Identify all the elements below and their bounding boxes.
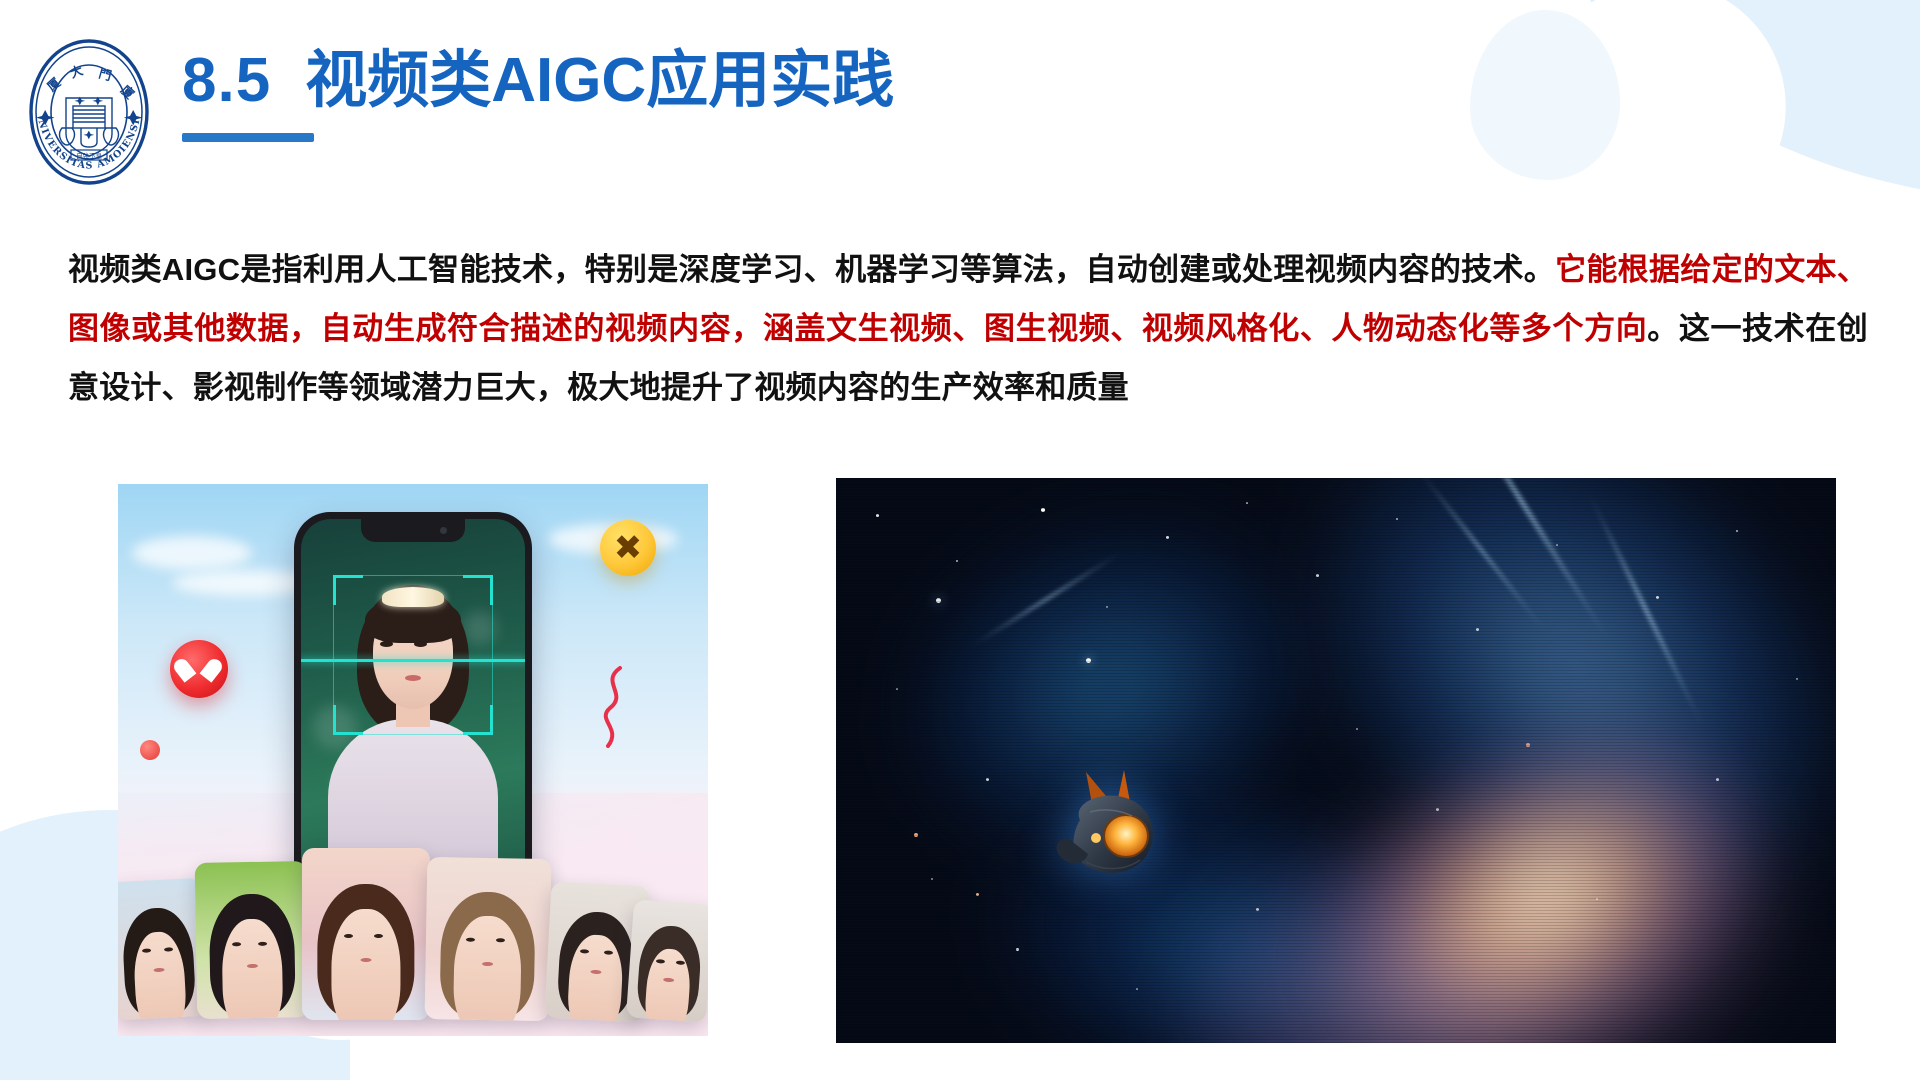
figure-row: ✖ (0, 478, 1920, 1048)
face-thumbnail (195, 861, 310, 1019)
svg-text:自強不息: 自強不息 (76, 151, 103, 160)
heart-icon (170, 640, 228, 698)
face-detection-frame (333, 575, 493, 735)
face-thumbnail-strip (118, 840, 708, 1020)
detection-corner (463, 575, 493, 605)
face-thumbnail (118, 878, 208, 1021)
spaceship-icon (1034, 764, 1184, 884)
body-paragraph: 视频类AIGC是指利用人工智能技术，特别是深度学习、机器学习等算法，自动创建或处… (68, 240, 1868, 417)
ribbon-swirl-icon (590, 664, 634, 760)
red-dot-decoration (140, 740, 160, 760)
image-ai-face-swap-poster: ✖ (118, 484, 708, 1036)
image-ai-generated-galaxy: AI 生成的星系太空场景，一艘橙色舷窗的飞船正驶向发光的星云漩涡 (836, 478, 1836, 1043)
page-title: 8.5视频类AIGC应用实践 (182, 48, 894, 113)
cloud-shape (132, 536, 252, 570)
detection-corner (333, 705, 363, 735)
face-thumbnail (302, 848, 430, 1020)
svg-text:門: 門 (97, 65, 113, 83)
body-segment-1: 视频类AIGC是指利用人工智能技术，特别是深度学习、机器学习等算法，自动创建或处… (68, 252, 1555, 287)
svg-text:厦: 厦 (44, 74, 64, 94)
face-thumbnail (626, 899, 708, 1022)
section-title: 视频类AIGC应用实践 (305, 46, 894, 115)
slide-root: 厦 大 門 廈 (0, 0, 1920, 1080)
detection-corner (463, 705, 493, 735)
detection-scanline (301, 659, 525, 662)
face-thumbnail (425, 857, 552, 1021)
phone-notch (361, 519, 465, 542)
star-field (836, 478, 1836, 1043)
laughing-emoji-icon: ✖ (600, 520, 656, 576)
title-block: 8.5视频类AIGC应用实践 (182, 48, 894, 142)
title-underline-rule (182, 133, 314, 142)
slide-header: 厦 大 門 廈 (0, 0, 1920, 205)
detection-corner (333, 575, 363, 605)
section-number: 8.5 (182, 46, 271, 115)
university-seal-icon: 厦 大 門 廈 (26, 36, 152, 188)
